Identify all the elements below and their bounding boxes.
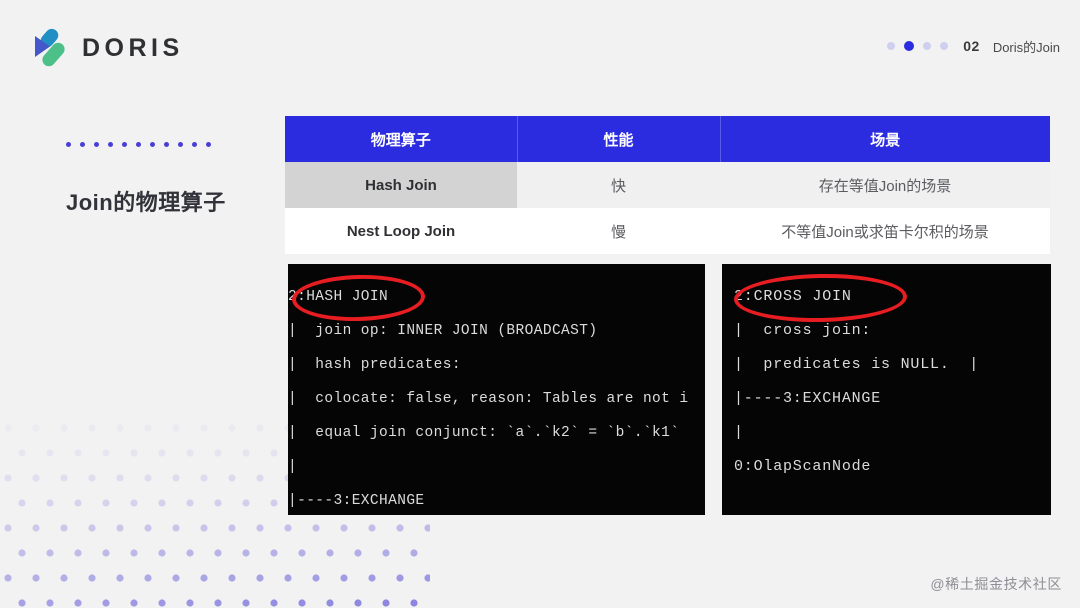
heading-dot bbox=[178, 142, 183, 147]
terminal-left-line-4: | colocate: false, reason: Tables are no… bbox=[288, 382, 699, 416]
section-heading: Join的物理算子 bbox=[66, 138, 276, 217]
heading-dot bbox=[94, 142, 99, 147]
heading-dot bbox=[66, 142, 71, 147]
brand-wordmark: DORIS bbox=[82, 34, 184, 63]
pager-dot-4[interactable] bbox=[940, 42, 948, 50]
terminal-right-line-4: |----3:EXCHANGE bbox=[728, 382, 1051, 416]
cell-operator-hash-join: Hash Join bbox=[285, 162, 517, 208]
table-header-row: 物理算子 性能 场景 bbox=[285, 116, 1050, 162]
heading-dot bbox=[122, 142, 127, 147]
pager-dot-1[interactable] bbox=[887, 42, 895, 50]
table-row: Nest Loop Join 慢 不等值Join或求笛卡尔积的场景 bbox=[285, 208, 1050, 254]
heading-dot bbox=[150, 142, 155, 147]
doris-logo-icon bbox=[27, 27, 69, 69]
terminal-left-line-1: 2:HASH JOIN bbox=[288, 280, 699, 314]
cell-scenario-hash-join: 存在等值Join的场景 bbox=[720, 162, 1050, 208]
cell-performance-nest-loop-join: 慢 bbox=[517, 208, 720, 254]
heading-dot bbox=[80, 142, 85, 147]
terminal-left-line-3: | hash predicates: bbox=[288, 348, 699, 382]
terminal-left-line-7: |----3:EXCHANGE bbox=[288, 484, 699, 515]
terminal-left-lines: 2:HASH JOIN| join op: INNER JOIN (BROADC… bbox=[288, 280, 699, 515]
heading-dot bbox=[108, 142, 113, 147]
table-header-operator: 物理算子 bbox=[285, 116, 517, 162]
join-operator-table: 物理算子 性能 场景 Hash Join 快 存在等值Join的场景 Nest … bbox=[285, 116, 1050, 254]
pager-label: Doris的Join bbox=[993, 37, 1060, 56]
terminal-left-line-2: | join op: INNER JOIN (BROADCAST) bbox=[288, 314, 699, 348]
pager-dot-3[interactable] bbox=[923, 42, 931, 50]
terminal-right-line-5: | bbox=[728, 416, 1051, 450]
terminal-hash-join-plan: 2:HASH JOIN| join op: INNER JOIN (BROADC… bbox=[288, 264, 705, 515]
heading-dot bbox=[192, 142, 197, 147]
heading-dot bbox=[164, 142, 169, 147]
terminal-right-line-2: | cross join: bbox=[728, 314, 1051, 348]
table-header-performance: 性能 bbox=[517, 116, 720, 162]
terminal-left-line-6: | bbox=[288, 450, 699, 484]
watermark: @稀土掘金技术社区 bbox=[930, 574, 1062, 594]
terminal-right-line-6: 0:OlapScanNode bbox=[728, 450, 1051, 484]
table-header-scenario: 场景 bbox=[720, 116, 1050, 162]
terminal-right-line-3: | predicates is NULL. | bbox=[728, 348, 1051, 382]
cell-performance-hash-join: 快 bbox=[517, 162, 720, 208]
brand-logo: DORIS bbox=[27, 27, 184, 69]
cell-operator-nest-loop-join: Nest Loop Join bbox=[285, 208, 517, 254]
page-title: Join的物理算子 bbox=[66, 185, 276, 217]
heading-dot bbox=[206, 142, 211, 147]
terminal-cross-join-plan: 2:CROSS JOIN| cross join:| predicates is… bbox=[722, 264, 1051, 515]
cell-scenario-nest-loop-join: 不等值Join或求笛卡尔积的场景 bbox=[720, 208, 1050, 254]
terminal-right-lines: 2:CROSS JOIN| cross join:| predicates is… bbox=[728, 280, 1051, 484]
pager-number: 02 bbox=[963, 38, 980, 54]
table-row: Hash Join 快 存在等值Join的场景 bbox=[285, 162, 1050, 208]
terminal-right-line-1: 2:CROSS JOIN bbox=[728, 280, 1051, 314]
slide-canvas: DORIS 02 Doris的Join Join的物理算子 物理算子 性能 场景… bbox=[0, 0, 1080, 608]
terminal-left-line-5: | equal join conjunct: `a`.`k2` = `b`.`k… bbox=[288, 416, 699, 450]
heading-dot bbox=[136, 142, 141, 147]
heading-dot-row bbox=[66, 138, 276, 150]
section-pager: 02 Doris的Join bbox=[887, 36, 1060, 56]
pager-dot-2-active[interactable] bbox=[904, 41, 914, 51]
